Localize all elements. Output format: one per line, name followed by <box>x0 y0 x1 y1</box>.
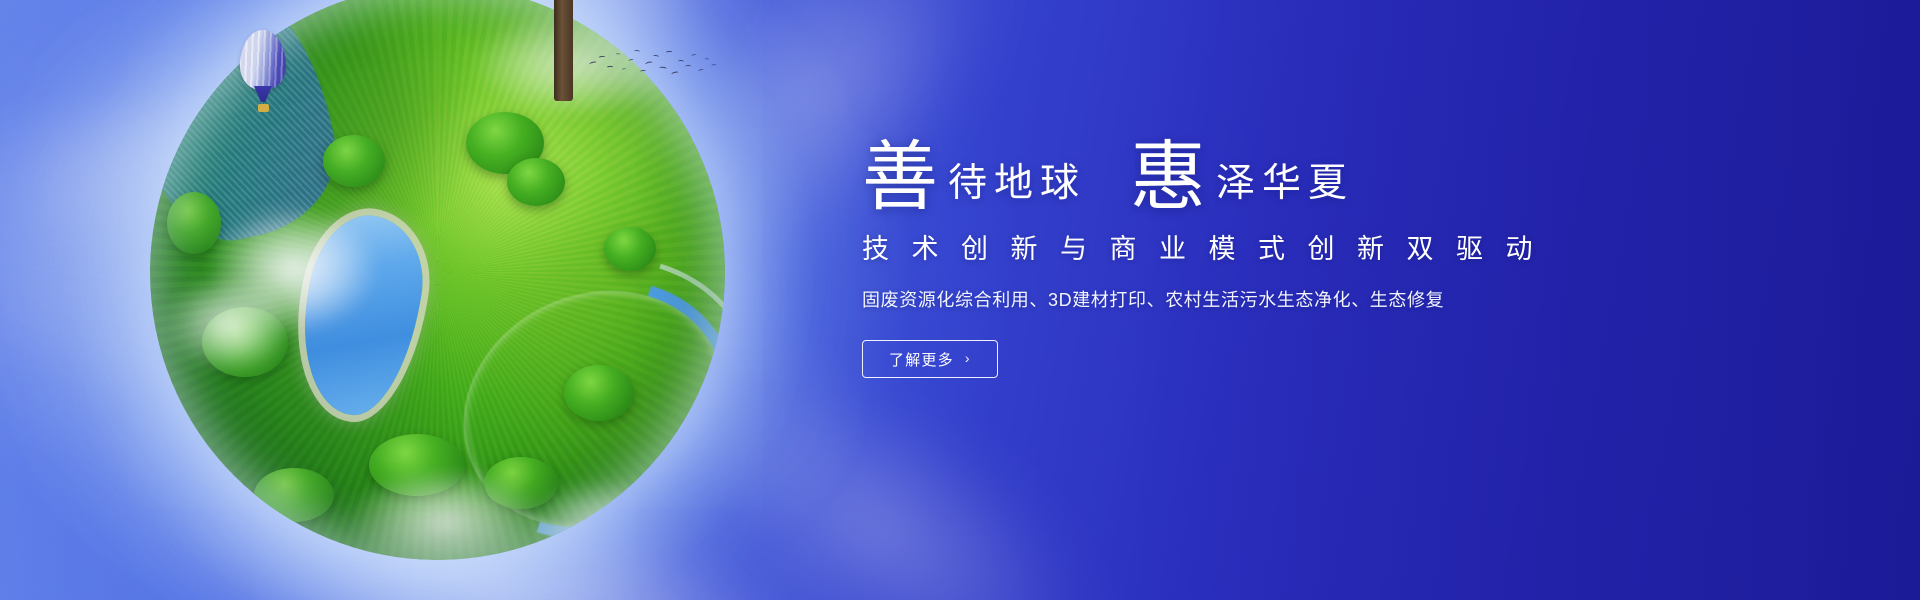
headline-rest-1: 待地球 <box>938 164 1086 212</box>
page-description: 固废资源化综合利用、3D建材打印、农村生活污水生态净化、生态修复 <box>862 287 1562 314</box>
page-title: 善 待地球 惠 泽华夏 <box>862 128 1562 212</box>
headline-char-1: 善 <box>862 142 938 212</box>
hero-content: 善 待地球 惠 泽华夏 技 术 创 新 与 商 业 模 式 创 新 双 驱 动 … <box>862 128 1562 378</box>
chevron-right-icon: › <box>965 351 971 365</box>
learn-more-label: 了解更多 <box>889 349 954 370</box>
page-subtitle: 技 术 创 新 与 商 业 模 式 创 新 双 驱 动 <box>862 232 1562 267</box>
headline-rest-2: 泽华夏 <box>1206 164 1354 212</box>
hero-banner: 善 待地球 惠 泽华夏 技 术 创 新 与 商 业 模 式 创 新 双 驱 动 … <box>0 0 1920 600</box>
headline-char-2: 惠 <box>1130 142 1206 212</box>
learn-more-button[interactable]: 了解更多 › <box>862 340 998 378</box>
